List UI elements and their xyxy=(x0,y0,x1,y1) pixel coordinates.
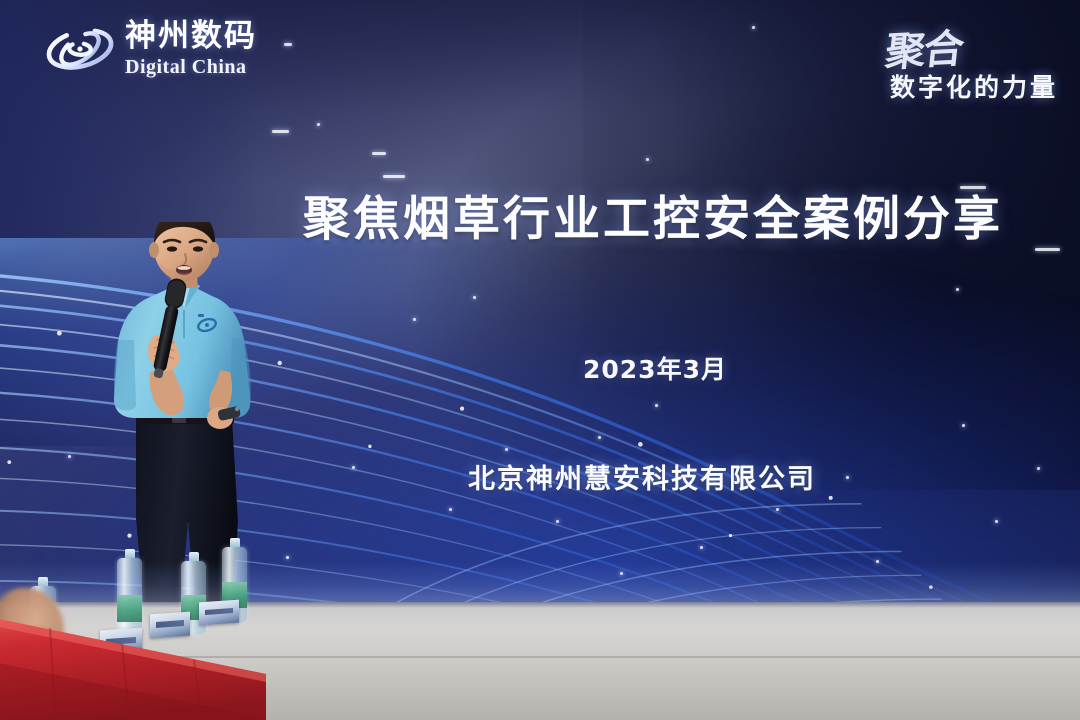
brand-wordmark: 神州数码 Digital China xyxy=(125,21,257,77)
bottle-cap xyxy=(189,552,199,561)
brand-logo: 神州数码 Digital China xyxy=(44,20,257,78)
bottle-cap xyxy=(125,549,135,558)
brand-name-en: Digital China xyxy=(125,57,257,77)
conference-stage-photo: 聚焦烟草行业工控安全案例分享 2023年3月 北京神州慧安科技有限公司 神州数码… xyxy=(0,0,1080,720)
slide-company-name: 北京神州慧安科技有限公司 xyxy=(468,457,816,496)
event-slogan: 聚合 数字化的力量 xyxy=(886,18,1058,104)
conference-table xyxy=(0,578,266,720)
slide-title: 聚焦烟草行业工控安全案例分享 xyxy=(303,180,1003,249)
red-tablecloth xyxy=(0,578,266,720)
slogan-calligraphy: 聚合 xyxy=(883,16,966,78)
brand-name-cn: 神州数码 xyxy=(125,21,257,52)
bottle-cap xyxy=(230,538,240,547)
spiral-swirl-icon xyxy=(44,20,116,78)
slide-date: 2023年3月 xyxy=(583,350,727,386)
